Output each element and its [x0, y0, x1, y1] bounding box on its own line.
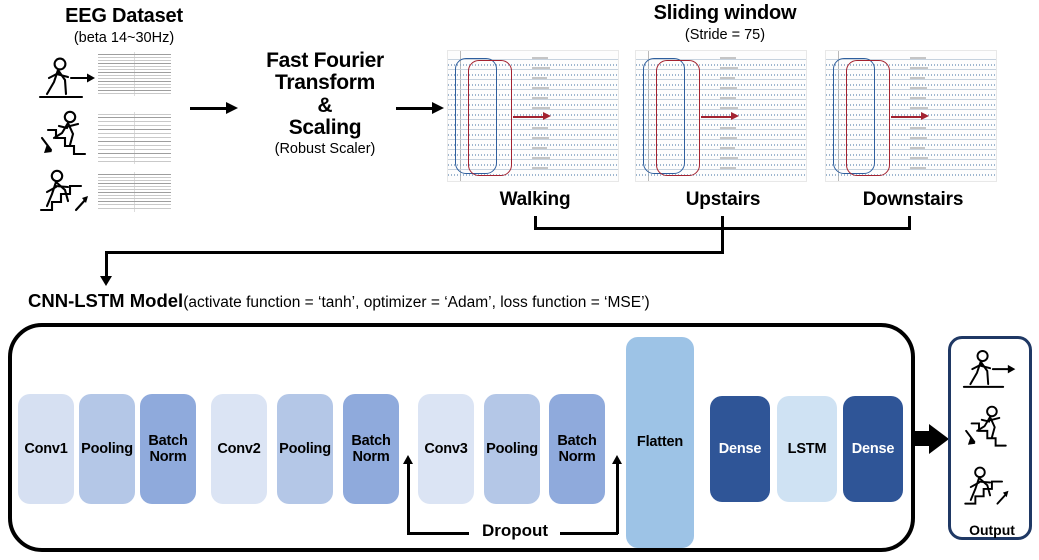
arrow-model-to-output-head [929, 424, 949, 454]
fft-line-2: Transform [235, 72, 415, 94]
sliding-window-stride-arrow-head-upstairs [731, 112, 739, 120]
arrow-dataset-to-fft [190, 107, 228, 110]
sliding-window-title: Sliding window [600, 2, 850, 25]
bracket-center-stem [721, 227, 724, 254]
sliding-window-stride-arrow-upstairs [701, 116, 733, 118]
eeg-signal-plot-downstairs [98, 112, 171, 164]
dropout-right-arrowhead [612, 455, 622, 464]
output-label: Output [952, 522, 1032, 538]
output-downstairs-icon [962, 405, 1020, 453]
sliding-window-stride-arrow-head-walking [543, 112, 551, 120]
fft-ampersand: & [235, 95, 415, 117]
layer-pooling-3[interactable]: Pooling [484, 394, 540, 504]
sliding-window-stride-arrow-walking [513, 116, 545, 118]
layer-batchnorm-2[interactable]: BatchNorm [343, 394, 399, 504]
downstairs-icon [38, 110, 100, 162]
layer-pooling-1[interactable]: Pooling [79, 394, 135, 504]
layer-pooling-2[interactable]: Pooling [277, 394, 333, 504]
output-upstairs-icon [962, 465, 1020, 511]
fft-line-3: Scaling [235, 117, 415, 139]
fft-line-1: Fast Fourier [235, 50, 415, 72]
eeg-signal-plot-walking [98, 52, 171, 96]
class-label-upstairs: Upstairs [643, 189, 803, 211]
sliding-window-stride-arrow-downstairs [891, 116, 923, 118]
route-to-model-arrowhead [100, 276, 112, 286]
dropout-left-arrowhead [403, 455, 413, 464]
layer-lstm[interactable]: LSTM [777, 396, 837, 502]
layer-conv3[interactable]: Conv3 [418, 394, 474, 504]
layer-dense-2[interactable]: Dense [843, 396, 903, 502]
model-name: CNN-LSTM Model [28, 290, 183, 311]
layer-batchnorm-3-label: BatchNorm [557, 433, 596, 465]
upstairs-icon [38, 168, 100, 218]
route-to-model-vertical [105, 251, 108, 278]
layer-batchnorm-1[interactable]: BatchNorm [140, 394, 196, 504]
sliding-window-second-window-upstairs [656, 60, 700, 176]
eeg-dataset-subtitle: (beta 14~30Hz) [34, 30, 214, 46]
sliding-window-second-window-walking [468, 60, 512, 176]
eeg-signal-plot-upstairs [98, 172, 171, 212]
dropout-right-vertical [616, 463, 619, 534]
layer-conv1[interactable]: Conv1 [18, 394, 74, 504]
sliding-window-second-window-downstairs [846, 60, 890, 176]
class-label-walking: Walking [455, 189, 615, 211]
dropout-left-vertical [407, 463, 410, 534]
layer-batchnorm-3[interactable]: BatchNorm [549, 394, 605, 504]
route-to-model-horizontal [105, 251, 724, 254]
dropout-left-horizontal [407, 532, 469, 535]
layer-flatten[interactable]: Flatten [626, 337, 694, 548]
output-walking-icon [962, 348, 1020, 394]
layer-conv2[interactable]: Conv2 [211, 394, 267, 504]
fft-scaling-block: Fast Fourier Transform & Scaling (Robust… [235, 50, 415, 157]
eeg-dataset-title: EEG Dataset [34, 5, 214, 28]
bracket-right-tick [908, 216, 911, 230]
walking-icon [38, 56, 100, 104]
model-title: CNN-LSTM Model(activate function = ‘tanh… [28, 290, 650, 312]
sliding-window-stride-arrow-head-downstairs [921, 112, 929, 120]
fft-subtitle: (Robust Scaler) [235, 142, 415, 158]
model-params: (activate function = ‘tanh’, optimizer =… [183, 294, 650, 311]
arrow-fft-to-sliding-window [396, 107, 434, 110]
arrow-fft-to-sliding-window-head [432, 102, 444, 114]
dropout-right-horizontal [560, 532, 618, 535]
layer-dense-1[interactable]: Dense [710, 396, 770, 502]
class-label-downstairs: Downstairs [833, 189, 993, 211]
dropout-label: Dropout [470, 521, 560, 541]
sliding-window-subtitle: (Stride = 75) [600, 27, 850, 43]
